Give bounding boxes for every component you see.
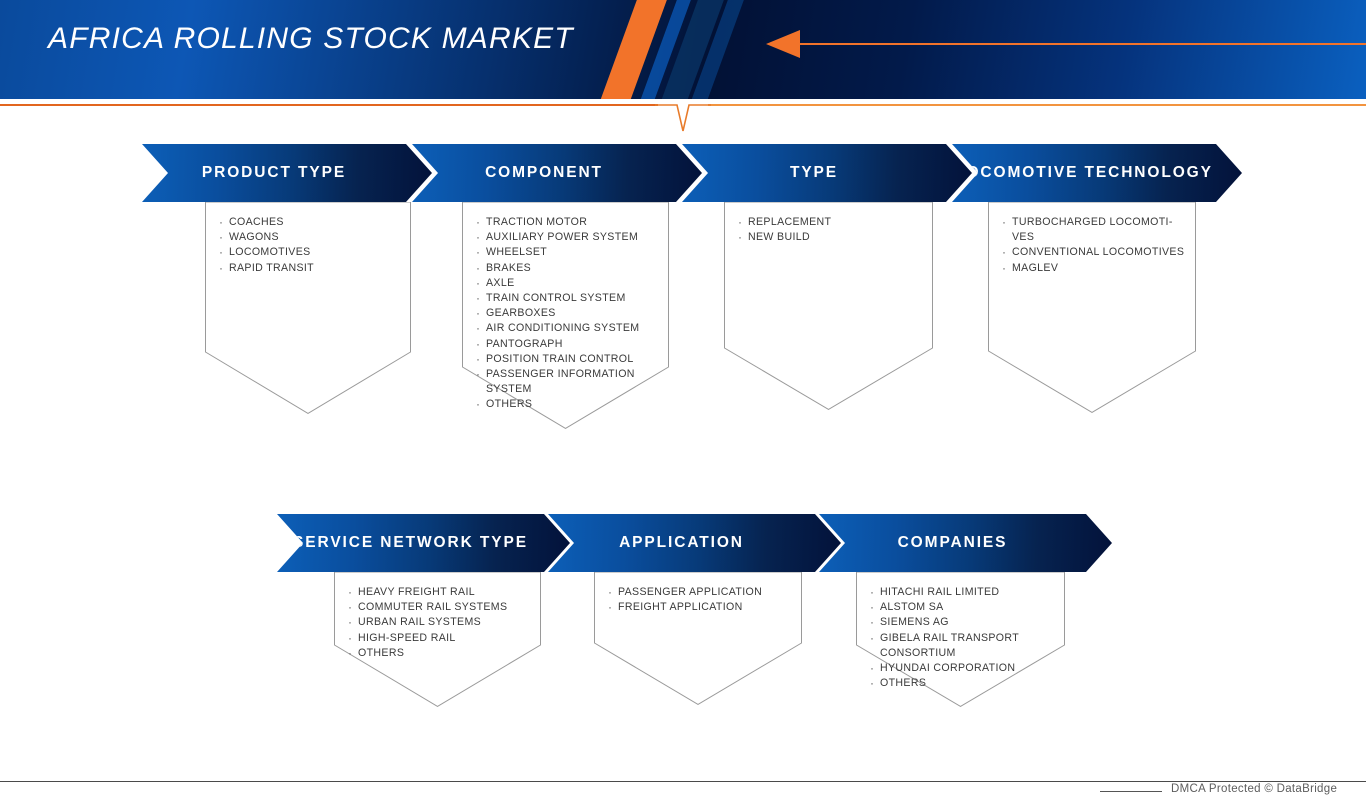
list-item: ·POSITION TRAIN CONTROL: [470, 352, 659, 367]
segment-banner-application[interactable]: APPLICATION: [548, 514, 841, 572]
bullet-icon: ·: [470, 306, 486, 321]
list-item-label: URBAN RAIL SYSTEMS: [358, 615, 481, 630]
list-item: ·NEW BUILD: [732, 230, 923, 245]
list-item: ·WHEELSET: [470, 245, 659, 260]
bullet-icon: ·: [213, 261, 229, 276]
footer-divider: [0, 781, 1366, 782]
list-item: ·TRAIN CONTROL SYSTEM: [470, 291, 659, 306]
bullet-icon: ·: [470, 276, 486, 291]
segment-banner-row-2: SERVICE NETWORK TYPEAPPLICATIONCOMPANIES: [277, 514, 1089, 572]
bullet-icon: ·: [602, 585, 618, 600]
list-item: ·PANTOGRAPH: [470, 337, 659, 352]
list-item: ·CONVENTIONAL LOCOMOTIVES: [996, 245, 1186, 260]
list-item: ·MAGLEV: [996, 261, 1186, 276]
list-item: ·GIBELA RAIL TRANSPORT CONSORTIUM: [864, 631, 1055, 661]
segment-banner-companies[interactable]: COMPANIES: [819, 514, 1112, 572]
list-item: ·TRACTION MOTOR: [470, 215, 659, 230]
page-title: AFRICA ROLLING STOCK MARKET: [48, 22, 574, 56]
segment-panel: ·REPLACEMENT·NEW BUILD: [724, 202, 933, 410]
list-item-label: LOCOMOTIVES: [229, 245, 311, 260]
list-item-label: OTHERS: [358, 646, 404, 661]
segment-banner-service-network-type[interactable]: SERVICE NETWORK TYPE: [277, 514, 570, 572]
list-item-label: PASSENGER APPLICATION: [618, 585, 762, 600]
bullet-icon: ·: [342, 615, 358, 630]
list-item-label: HITACHI RAIL LIMITED: [880, 585, 999, 600]
segment-banner-label: PRODUCT TYPE: [142, 164, 432, 182]
page-header: AFRICA ROLLING STOCK MARKET: [0, 0, 1366, 99]
bullet-icon: ·: [342, 585, 358, 600]
list-item: ·HIGH-SPEED RAIL: [342, 631, 531, 646]
list-item: ·ALSTOM SA: [864, 600, 1055, 615]
list-item-label: OTHERS: [486, 397, 532, 412]
header-arrow-line: [800, 43, 1366, 45]
list-item-label: PANTOGRAPH: [486, 337, 563, 352]
bullet-icon: ·: [213, 245, 229, 260]
list-item: ·GEARBOXES: [470, 306, 659, 321]
bullet-icon: ·: [732, 215, 748, 230]
list-item: ·TURBOCHARGED LOCOMOTI-VES: [996, 215, 1186, 245]
segment-banner-label: COMPANIES: [819, 534, 1112, 552]
segment-banner-locomotive-technology[interactable]: LOCOMOTIVE TECHNOLOGY: [952, 144, 1242, 202]
list-item: ·HITACHI RAIL LIMITED: [864, 585, 1055, 600]
bullet-icon: ·: [470, 367, 486, 382]
list-item-label: POSITION TRAIN CONTROL: [486, 352, 634, 367]
bullet-icon: ·: [342, 600, 358, 615]
segment-panel: ·COACHES·WAGONS·LOCOMOTIVES·RAPID TRANSI…: [205, 202, 411, 414]
bullet-icon: ·: [864, 676, 880, 691]
bullet-icon: ·: [470, 337, 486, 352]
bullet-icon: ·: [732, 230, 748, 245]
list-item: ·AIR CONDITIONING SYSTEM: [470, 321, 659, 336]
list-item-label: HEAVY FREIGHT RAIL: [358, 585, 475, 600]
segment-banner-label: APPLICATION: [548, 534, 841, 552]
list-item: ·AXLE: [470, 276, 659, 291]
left-arrow-icon: [766, 30, 800, 58]
bullet-icon: ·: [470, 352, 486, 367]
bullet-icon: ·: [213, 230, 229, 245]
bullet-icon: ·: [470, 397, 486, 412]
segment-panel: ·PASSENGER APPLICATION·FREIGHT APPLICATI…: [594, 572, 802, 705]
list-item: ·COACHES: [213, 215, 401, 230]
list-item: ·OTHERS: [864, 676, 1055, 691]
list-item-label: COACHES: [229, 215, 284, 230]
bullet-icon: ·: [470, 291, 486, 306]
list-item: ·REPLACEMENT: [732, 215, 923, 230]
list-item-label: AIR CONDITIONING SYSTEM: [486, 321, 639, 336]
list-item: ·URBAN RAIL SYSTEMS: [342, 615, 531, 630]
segment-banner-type[interactable]: TYPE: [682, 144, 972, 202]
bullet-icon: ·: [342, 646, 358, 661]
list-item-label: ALSTOM SA: [880, 600, 944, 615]
list-item-label: AUXILIARY POWER SYSTEM: [486, 230, 638, 245]
segment-item-list: ·TRACTION MOTOR·AUXILIARY POWER SYSTEM·W…: [462, 202, 669, 413]
list-item-label: HIGH-SPEED RAIL: [358, 631, 456, 646]
bullet-icon: ·: [470, 215, 486, 230]
segment-panel: ·TRACTION MOTOR·AUXILIARY POWER SYSTEM·W…: [462, 202, 669, 429]
segment-item-list: ·HEAVY FREIGHT RAIL·COMMUTER RAIL SYSTEM…: [334, 572, 541, 661]
list-item-label: SIEMENS AG: [880, 615, 949, 630]
list-item: ·RAPID TRANSIT: [213, 261, 401, 276]
list-item-label: WHEELSET: [486, 245, 547, 260]
list-item-label: BRAKES: [486, 261, 531, 276]
list-item-label: TRAIN CONTROL SYSTEM: [486, 291, 626, 306]
list-item-label: HYUNDAI CORPORATION: [880, 661, 1015, 676]
segment-panel: ·HEAVY FREIGHT RAIL·COMMUTER RAIL SYSTEM…: [334, 572, 541, 707]
segment-banner-label: TYPE: [682, 164, 972, 182]
list-item-label: REPLACEMENT: [748, 215, 831, 230]
list-item: ·HEAVY FREIGHT RAIL: [342, 585, 531, 600]
bullet-icon: ·: [470, 230, 486, 245]
list-item: ·OTHERS: [342, 646, 531, 661]
list-item-label: GIBELA RAIL TRANSPORT CONSORTIUM: [880, 631, 1055, 661]
bullet-icon: ·: [864, 631, 880, 646]
segment-panel: ·TURBOCHARGED LOCOMOTI-VES·CONVENTIONAL …: [988, 202, 1196, 413]
list-item: ·COMMUTER RAIL SYSTEMS: [342, 600, 531, 615]
list-item: ·AUXILIARY POWER SYSTEM: [470, 230, 659, 245]
bullet-icon: ·: [470, 245, 486, 260]
list-item: ·PASSENGER APPLICATION: [602, 585, 792, 600]
list-item-label: WAGONS: [229, 230, 279, 245]
list-item-label: TRACTION MOTOR: [486, 215, 587, 230]
segment-banner-product-type[interactable]: PRODUCT TYPE: [142, 144, 432, 202]
segment-banner-label: COMPONENT: [412, 164, 702, 182]
list-item: ·SIEMENS AG: [864, 615, 1055, 630]
list-item-label: GEARBOXES: [486, 306, 556, 321]
bullet-icon: ·: [470, 321, 486, 336]
segment-banner-row-1: PRODUCT TYPECOMPONENTTYPELOCOMOTIVE TECH…: [142, 144, 1222, 202]
list-item: ·LOCOMOTIVES: [213, 245, 401, 260]
list-item-label: PASSENGER INFORMATION SYSTEM: [486, 367, 659, 397]
list-item: ·HYUNDAI CORPORATION: [864, 661, 1055, 676]
list-item: ·WAGONS: [213, 230, 401, 245]
bullet-icon: ·: [864, 661, 880, 676]
segment-banner-component[interactable]: COMPONENT: [412, 144, 702, 202]
bullet-icon: ·: [864, 585, 880, 600]
list-item-label: TURBOCHARGED LOCOMOTI-VES: [1012, 215, 1186, 245]
list-item-label: CONVENTIONAL LOCOMOTIVES: [1012, 245, 1184, 260]
segment-item-list: ·PASSENGER APPLICATION·FREIGHT APPLICATI…: [594, 572, 802, 615]
segment-item-list: ·TURBOCHARGED LOCOMOTI-VES·CONVENTIONAL …: [988, 202, 1196, 276]
list-item-label: OTHERS: [880, 676, 926, 691]
list-item-label: RAPID TRANSIT: [229, 261, 314, 276]
bullet-icon: ·: [864, 600, 880, 615]
divider-rule-left: [0, 104, 658, 106]
divider-notch-icon: [655, 104, 711, 134]
list-item-label: AXLE: [486, 276, 515, 291]
segment-item-list: ·COACHES·WAGONS·LOCOMOTIVES·RAPID TRANSI…: [205, 202, 411, 276]
divider-rule-right: [708, 104, 1366, 106]
list-item-label: FREIGHT APPLICATION: [618, 600, 743, 615]
bullet-icon: ·: [996, 245, 1012, 260]
list-item: ·PASSENGER INFORMATION SYSTEM: [470, 367, 659, 397]
list-item: ·BRAKES: [470, 261, 659, 276]
footer-dash: [1100, 791, 1162, 792]
segment-banner-label: LOCOMOTIVE TECHNOLOGY: [952, 164, 1242, 182]
segment-item-list: ·REPLACEMENT·NEW BUILD: [724, 202, 933, 245]
list-item-label: NEW BUILD: [748, 230, 810, 245]
segment-panel: ·HITACHI RAIL LIMITED·ALSTOM SA·SIEMENS …: [856, 572, 1065, 707]
list-item: ·FREIGHT APPLICATION: [602, 600, 792, 615]
bullet-icon: ·: [996, 215, 1012, 230]
bullet-icon: ·: [213, 215, 229, 230]
bullet-icon: ·: [864, 615, 880, 630]
bullet-icon: ·: [342, 631, 358, 646]
bullet-icon: ·: [470, 261, 486, 276]
bullet-icon: ·: [602, 600, 618, 615]
list-item: ·OTHERS: [470, 397, 659, 412]
segment-banner-label: SERVICE NETWORK TYPE: [277, 534, 570, 552]
list-item-label: MAGLEV: [1012, 261, 1058, 276]
bullet-icon: ·: [996, 261, 1012, 276]
segment-item-list: ·HITACHI RAIL LIMITED·ALSTOM SA·SIEMENS …: [856, 572, 1065, 691]
list-item-label: COMMUTER RAIL SYSTEMS: [358, 600, 507, 615]
footer-copyright: DMCA Protected © DataBridge: [1171, 783, 1337, 795]
